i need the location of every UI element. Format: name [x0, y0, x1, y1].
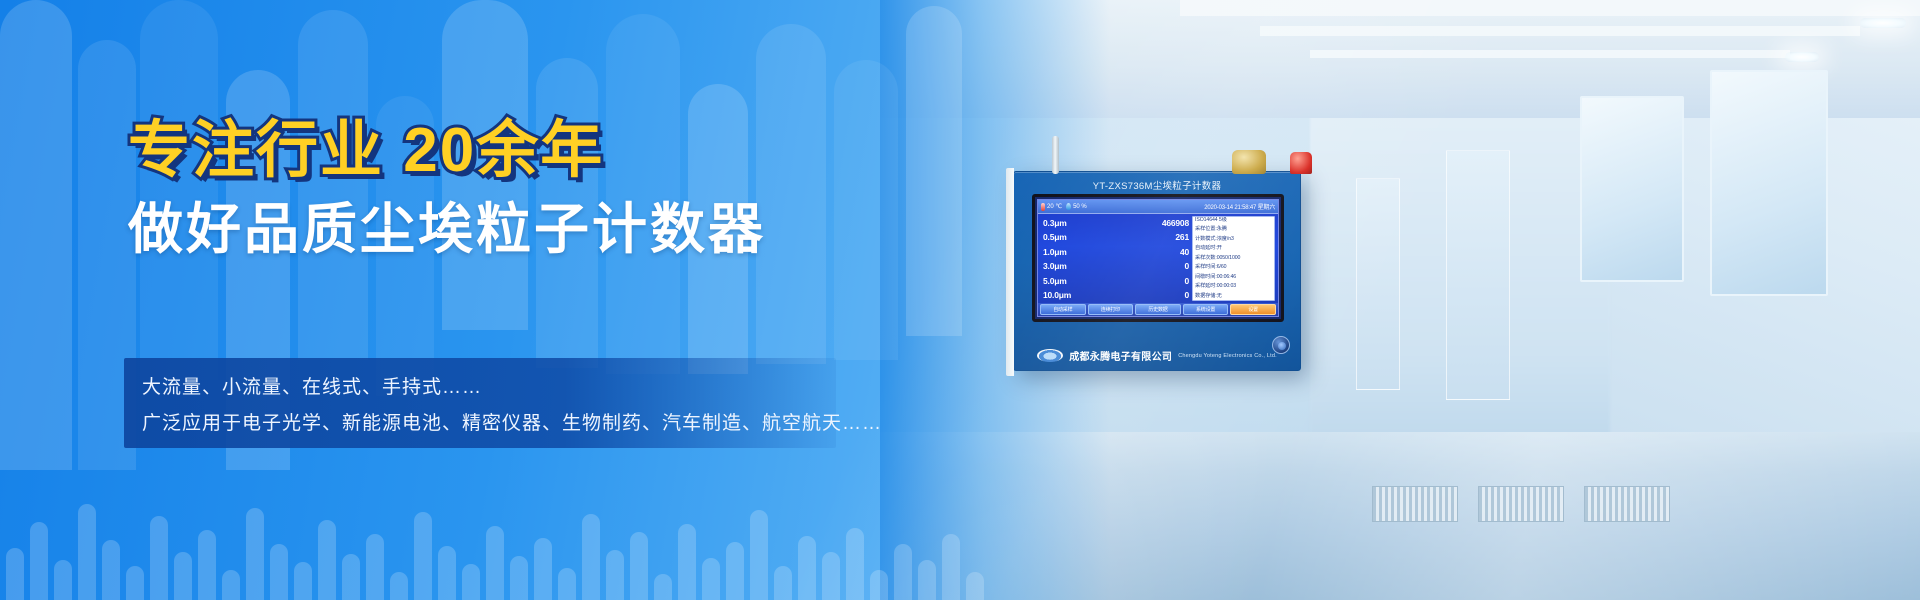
corridor-door: [1446, 150, 1510, 400]
particle-size: 5.0μm: [1043, 276, 1067, 286]
particle-counts-table: 0.3μm 466908 0.5μm 261 1.0μm 40 3.0μm: [1041, 216, 1189, 301]
list-item: 间歇时间:00:06:46: [1195, 275, 1272, 280]
particle-size: 1.0μm: [1043, 247, 1067, 257]
thermometer-icon: [1041, 203, 1045, 211]
hero-copy: 专注行业 20余年 做好品质尘埃粒子计数器: [128, 118, 888, 260]
corridor-window: [1710, 70, 1828, 296]
ceiling-beam: [1260, 26, 1860, 36]
screen-button-bar: 自动采样 连续打印 历史数据 系统设置 设置: [1038, 303, 1278, 316]
corridor-window: [1580, 96, 1684, 282]
particle-count: 40: [1180, 247, 1189, 257]
settings-button[interactable]: 设置: [1230, 304, 1276, 315]
temperature-indicator: 20 ℃: [1041, 203, 1062, 211]
list-item: 采样位置:永腾: [1195, 227, 1272, 232]
water-drop-icon: [1066, 203, 1071, 210]
history-data-button[interactable]: 历史数据: [1135, 304, 1181, 315]
particle-count: 0: [1184, 261, 1189, 271]
ceiling-lamp: [1860, 18, 1906, 28]
screen-status-bar: 20 ℃ 50 % 2020-03-14 21:58:47 星期六: [1038, 200, 1278, 214]
power-knob[interactable]: [1272, 336, 1290, 354]
list-item: 数据存储:无: [1195, 294, 1272, 299]
brand-name-en: Chengdu Yoteng Electronics Co., Ltd.: [1178, 353, 1277, 359]
particle-size: 10.0μm: [1043, 290, 1071, 300]
table-row: 5.0μm 0: [1043, 276, 1189, 286]
list-item: 采样时间:6/60: [1195, 265, 1272, 270]
particle-size: 3.0μm: [1043, 261, 1067, 271]
device-settings-panel: ISO14644 5级 采样位置:永腾 计数模式:浓度/n3 自动延时:开 采样…: [1192, 216, 1275, 301]
humidity-value: 50 %: [1073, 204, 1087, 210]
datetime-value: 2020-03-14 21:58:47 星期六: [1204, 202, 1275, 211]
particle-count: 261: [1175, 232, 1189, 242]
particle-count: 0: [1184, 276, 1189, 286]
promo-banner: 专注行业 20余年 做好品质尘埃粒子计数器 大流量、小流量、在线式、手持式…… …: [0, 0, 1920, 600]
antenna-icon: [1052, 136, 1059, 174]
ceiling-beam: [1180, 0, 1920, 16]
particle-counter-device: YT-ZXS736M尘埃粒子计数器 20 ℃ 50 % 2020-03-14 2…: [1013, 171, 1301, 371]
device-screen[interactable]: 20 ℃ 50 % 2020-03-14 21:58:47 星期六 0.3μm …: [1032, 194, 1284, 322]
hero-subtitle-line-2: 广泛应用于电子光学、新能源电池、精密仪器、生物制药、汽车制造、航空航天……: [142, 408, 882, 435]
table-row: 0.5μm 261: [1043, 232, 1189, 242]
hero-headline-secondary: 做好品质尘埃粒子计数器: [128, 199, 888, 260]
brand-name-cn: 成都永腾电子有限公司: [1069, 348, 1172, 363]
temperature-value: 20 ℃: [1047, 203, 1062, 210]
system-settings-button[interactable]: 系统设置: [1183, 304, 1229, 315]
particle-count: 466908: [1162, 218, 1189, 228]
ceiling-beam: [1310, 50, 1790, 58]
hero-subtitle-line-1: 大流量、小流量、在线式、手持式……: [142, 372, 482, 399]
continuous-print-button[interactable]: 连续打印: [1088, 304, 1134, 315]
hero-headline-primary: 专注行业 20余年: [128, 118, 888, 183]
floor-vent: [1478, 486, 1564, 522]
particle-count: 0: [1184, 290, 1189, 300]
floor-vent: [1372, 486, 1458, 522]
floor-vent: [1584, 486, 1670, 522]
particle-size: 0.3μm: [1043, 218, 1067, 228]
sampling-port-icon: [1232, 150, 1266, 174]
yoteng-logo-icon: [1037, 349, 1063, 362]
humidity-indicator: 50 %: [1066, 203, 1087, 210]
ceiling-lamp: [1785, 52, 1819, 62]
list-item: ISO14644 5级: [1195, 218, 1272, 223]
particle-size: 0.5μm: [1043, 232, 1067, 242]
table-row: 10.0μm 0: [1043, 290, 1189, 300]
table-row: 1.0μm 40: [1043, 247, 1189, 257]
auto-sample-button[interactable]: 自动采样: [1040, 304, 1086, 315]
hero-subtitle-bar: 大流量、小流量、在线式、手持式…… 广泛应用于电子光学、新能源电池、精密仪器、生…: [124, 358, 836, 448]
list-item: 计数模式:浓度/n3: [1195, 237, 1272, 242]
list-item: 采样延时:00:00:03: [1195, 284, 1272, 289]
device-bezel: [1006, 168, 1014, 376]
device-model-label: YT-ZXS736M尘埃粒子计数器: [1014, 178, 1300, 192]
list-item: 自动延时:开: [1195, 246, 1272, 251]
table-row: 0.3μm 466908: [1043, 218, 1189, 228]
corridor-door: [1356, 178, 1400, 390]
list-item: 采样次数:0050/1000: [1195, 256, 1272, 261]
alarm-beacon-icon: [1290, 152, 1312, 174]
device-branding: 成都永腾电子有限公司 Chengdu Yoteng Electronics Co…: [1014, 348, 1300, 363]
table-row: 3.0μm 0: [1043, 261, 1189, 271]
decorative-equalizer: [0, 480, 1000, 600]
